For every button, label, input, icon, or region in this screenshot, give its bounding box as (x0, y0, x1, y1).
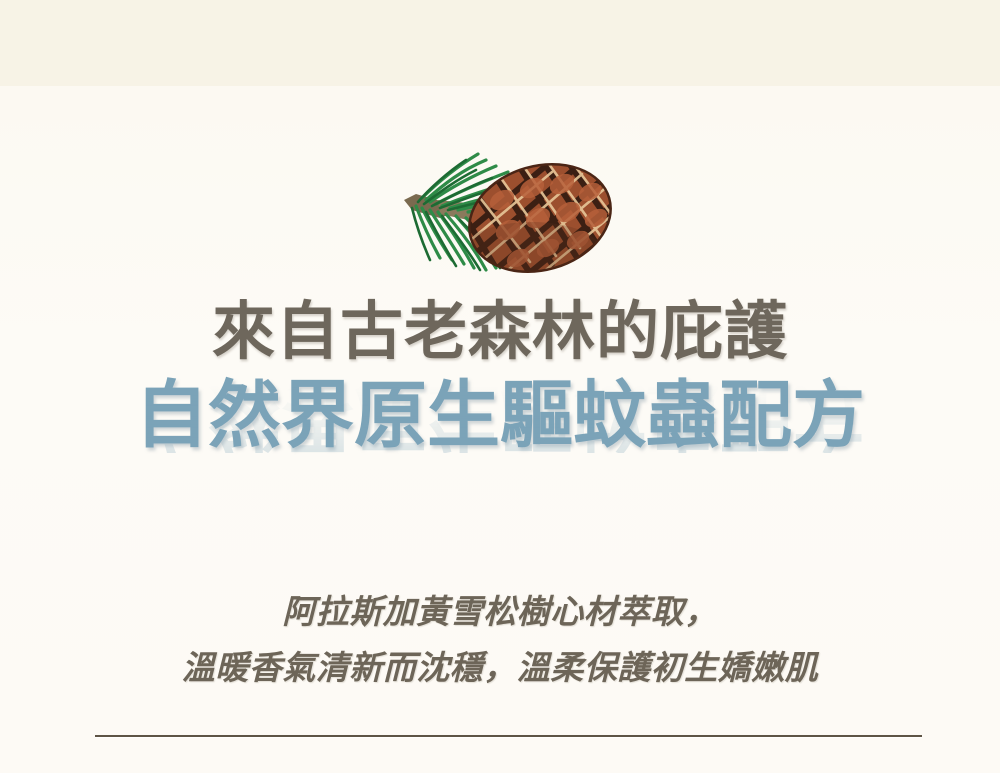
body-copy-line-2: 溫暖香氣清新而沈穩，溫柔保護初生嬌嫩肌 (0, 640, 1000, 696)
body-copy-line-1: 阿拉斯加黃雪松樹心材萃取， (0, 584, 1000, 640)
headline-primary: 來自古老森林的庇護 (0, 300, 1000, 363)
headline-block: 來自古老森林的庇護 自然界原生驅蚊蟲配方 自然界原生驅蚊蟲配方 (0, 300, 1000, 457)
headline-secondary: 自然界原生驅蚊蟲配方 (0, 379, 1000, 452)
divider (95, 735, 922, 737)
background-band-top (0, 0, 1000, 86)
pine-cone-icon (382, 142, 644, 300)
promo-banner: 來自古老森林的庇護 自然界原生驅蚊蟲配方 自然界原生驅蚊蟲配方 阿拉斯加黃雪松樹… (0, 0, 1000, 773)
body-copy: 阿拉斯加黃雪松樹心材萃取， 溫暖香氣清新而沈穩，溫柔保護初生嬌嫩肌 (0, 584, 1000, 696)
headline-secondary-wrap: 自然界原生驅蚊蟲配方 自然界原生驅蚊蟲配方 (0, 379, 1000, 457)
pine-cone-illustration (382, 142, 644, 300)
